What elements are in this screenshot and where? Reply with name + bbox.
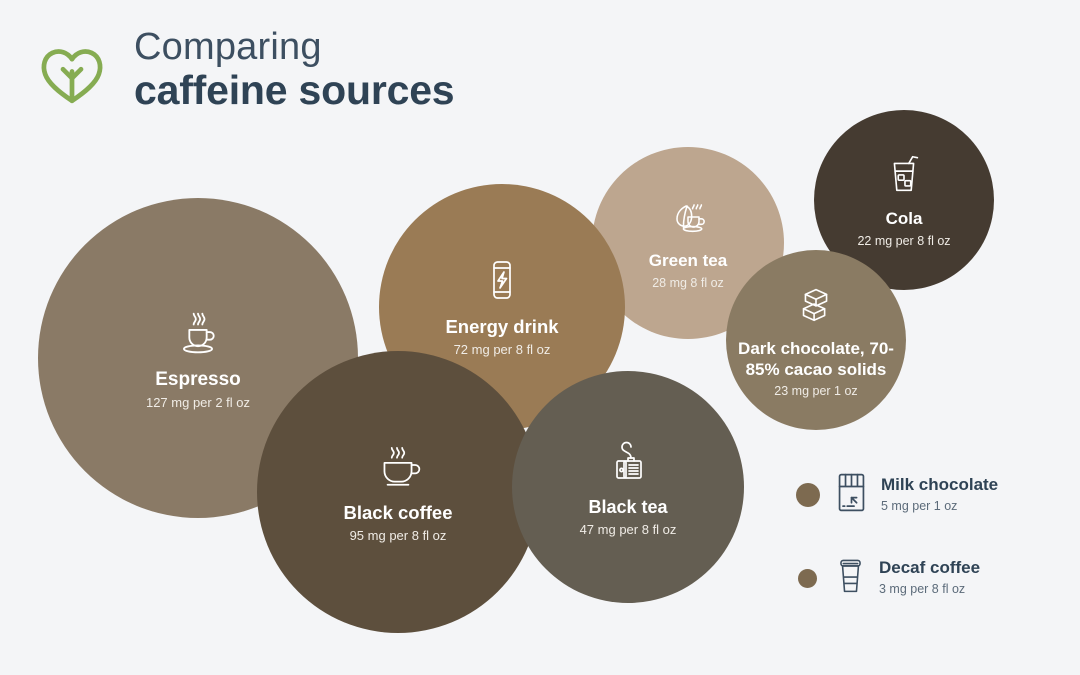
bubble-dark-chocolate[interactable]: Dark chocolate, 70-85% cacao solids23 mg…: [726, 250, 906, 430]
legend-text: Milk chocolate 5 mg per 1 oz: [881, 476, 998, 513]
tea-leaf-cup-icon: [666, 195, 710, 244]
takeaway-cup-icon: [837, 556, 864, 600]
bubble-label: Green tea: [643, 251, 733, 271]
legend-value: 3 mg per 8 fl oz: [879, 583, 980, 597]
tea-bag-icon: [604, 437, 652, 490]
infographic-canvas: Comparing caffeine sources Green tea28 m…: [0, 0, 1080, 675]
legend-text: Decaf coffee 3 mg per 8 fl oz: [879, 559, 980, 596]
bubble-label: Black coffee: [338, 502, 459, 524]
bubble-label: Black tea: [582, 497, 673, 518]
bubble-label: Dark chocolate, 70-85% cacao solids: [726, 339, 906, 379]
title-line-2: caffeine sources: [134, 70, 454, 111]
bubble-label: Espresso: [149, 369, 247, 391]
title-line-1: Comparing: [134, 28, 454, 66]
bubble-label: Energy drink: [439, 316, 564, 338]
page-title: Comparing caffeine sources: [134, 28, 454, 111]
bubble-value: 28 mg 8 fl oz: [652, 276, 724, 291]
header: Comparing caffeine sources: [36, 28, 454, 122]
legend-value: 5 mg per 1 oz: [881, 500, 998, 514]
bubble-label: Cola: [880, 209, 929, 229]
legend-label: Decaf coffee: [879, 559, 980, 578]
coffee-cup-icon: [373, 440, 423, 495]
legend-item-milk-chocolate[interactable]: Milk chocolate 5 mg per 1 oz: [796, 472, 1056, 518]
bubble-black-coffee[interactable]: Black coffee95 mg per 8 fl oz: [257, 351, 539, 633]
legend-dot: [798, 569, 817, 588]
bubble-value: 127 mg per 2 fl oz: [146, 395, 250, 411]
legend: Milk chocolate 5 mg per 1 oz Decaf coffe…: [796, 472, 1056, 638]
bubble-value: 95 mg per 8 fl oz: [350, 528, 447, 544]
energy-can-icon: [478, 256, 526, 309]
espresso-cup-icon: [172, 305, 224, 362]
bubble-value: 23 mg per 1 oz: [774, 384, 857, 399]
chocolate-chunks-icon: [793, 281, 839, 332]
legend-label: Milk chocolate: [881, 476, 998, 495]
legend-dot: [796, 483, 820, 507]
cola-glass-icon: [881, 151, 927, 202]
bubble-value: 22 mg per 8 fl oz: [857, 234, 950, 249]
leaf-heart-logo-icon: [36, 40, 108, 122]
bubble-value: 72 mg per 8 fl oz: [454, 342, 551, 358]
bubble-black-tea[interactable]: Black tea47 mg per 8 fl oz: [512, 371, 744, 603]
chocolate-bar-icon: [837, 472, 866, 518]
bubble-value: 47 mg per 8 fl oz: [580, 522, 677, 538]
legend-item-decaf-coffee[interactable]: Decaf coffee 3 mg per 8 fl oz: [796, 556, 1056, 600]
